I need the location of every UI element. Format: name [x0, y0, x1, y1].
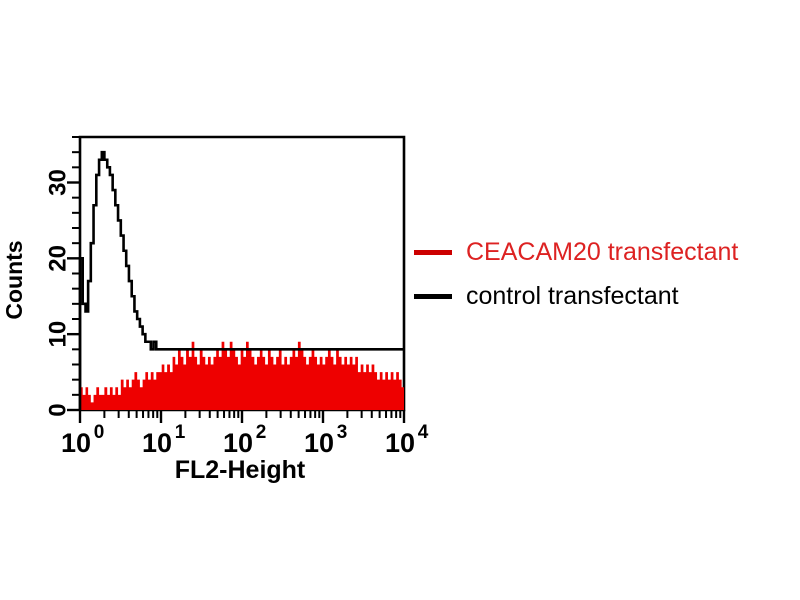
x-tick-label: 102	[223, 422, 266, 458]
legend-label-control: control transfectant	[466, 282, 679, 311]
svg-text:1: 1	[175, 422, 186, 443]
legend-entry-control: control transfectant	[414, 274, 800, 318]
x-tick-label: 101	[142, 422, 186, 458]
legend-swatch-red-icon	[414, 250, 452, 255]
series-ceacam20-area	[80, 319, 404, 410]
x-axis-tick-labels: 100101102103104	[61, 422, 429, 458]
svg-text:10: 10	[385, 428, 415, 458]
x-axis-ticks	[80, 410, 404, 423]
legend-label-ceacam20: CEACAM20 transfectant	[466, 238, 738, 267]
x-tick-label: 104	[385, 422, 429, 458]
y-axis-tick-labels: 0102030	[45, 169, 72, 417]
svg-text:2: 2	[256, 422, 267, 443]
x-axis-title: FL2-Height	[175, 456, 306, 484]
y-tick-label: 30	[45, 169, 72, 196]
svg-text:4: 4	[418, 422, 429, 443]
y-tick-label: 20	[45, 245, 72, 272]
svg-text:10: 10	[61, 428, 91, 458]
legend-entry-ceacam20: CEACAM20 transfectant	[414, 230, 800, 274]
y-axis-title: Counts	[1, 240, 27, 319]
y-tick-label: 10	[45, 321, 72, 348]
legend: CEACAM20 transfectant control transfecta…	[414, 230, 800, 318]
svg-text:10: 10	[142, 428, 172, 458]
x-tick-label: 103	[304, 422, 347, 458]
legend-swatch-black-icon	[414, 294, 452, 299]
svg-text:0: 0	[94, 422, 105, 443]
svg-text:10: 10	[304, 428, 334, 458]
svg-text:10: 10	[223, 428, 253, 458]
flow-cytometry-figure: 0102030 100101102103104 Counts FL2-Heigh…	[0, 0, 800, 600]
y-tick-label: 0	[45, 403, 72, 416]
x-tick-label: 100	[61, 422, 104, 458]
svg-text:3: 3	[337, 422, 348, 443]
